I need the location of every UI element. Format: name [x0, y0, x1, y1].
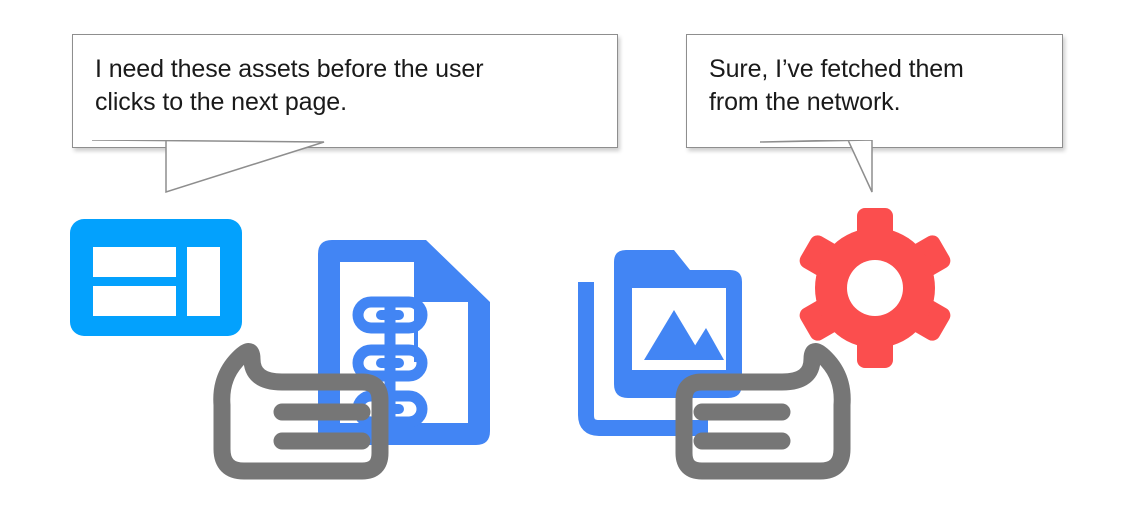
grabbing-hand-icon-left [212, 345, 392, 488]
speech-bubble-response-text: Sure, I’ve fetched them from the network… [687, 35, 1062, 119]
grabbing-hand-icon-right [672, 345, 852, 488]
speech-bubble-response-tail [760, 140, 960, 220]
diagram-canvas: I need these assets before the user clic… [0, 0, 1130, 528]
speech-bubble-response: Sure, I’ve fetched them from the network… [686, 34, 1063, 148]
speech-bubble-request-text: I need these assets before the user clic… [73, 35, 617, 119]
speech-bubble-request-tail [72, 140, 332, 220]
page-layout-icon [70, 219, 242, 336]
speech-bubble-request: I need these assets before the user clic… [72, 34, 618, 148]
